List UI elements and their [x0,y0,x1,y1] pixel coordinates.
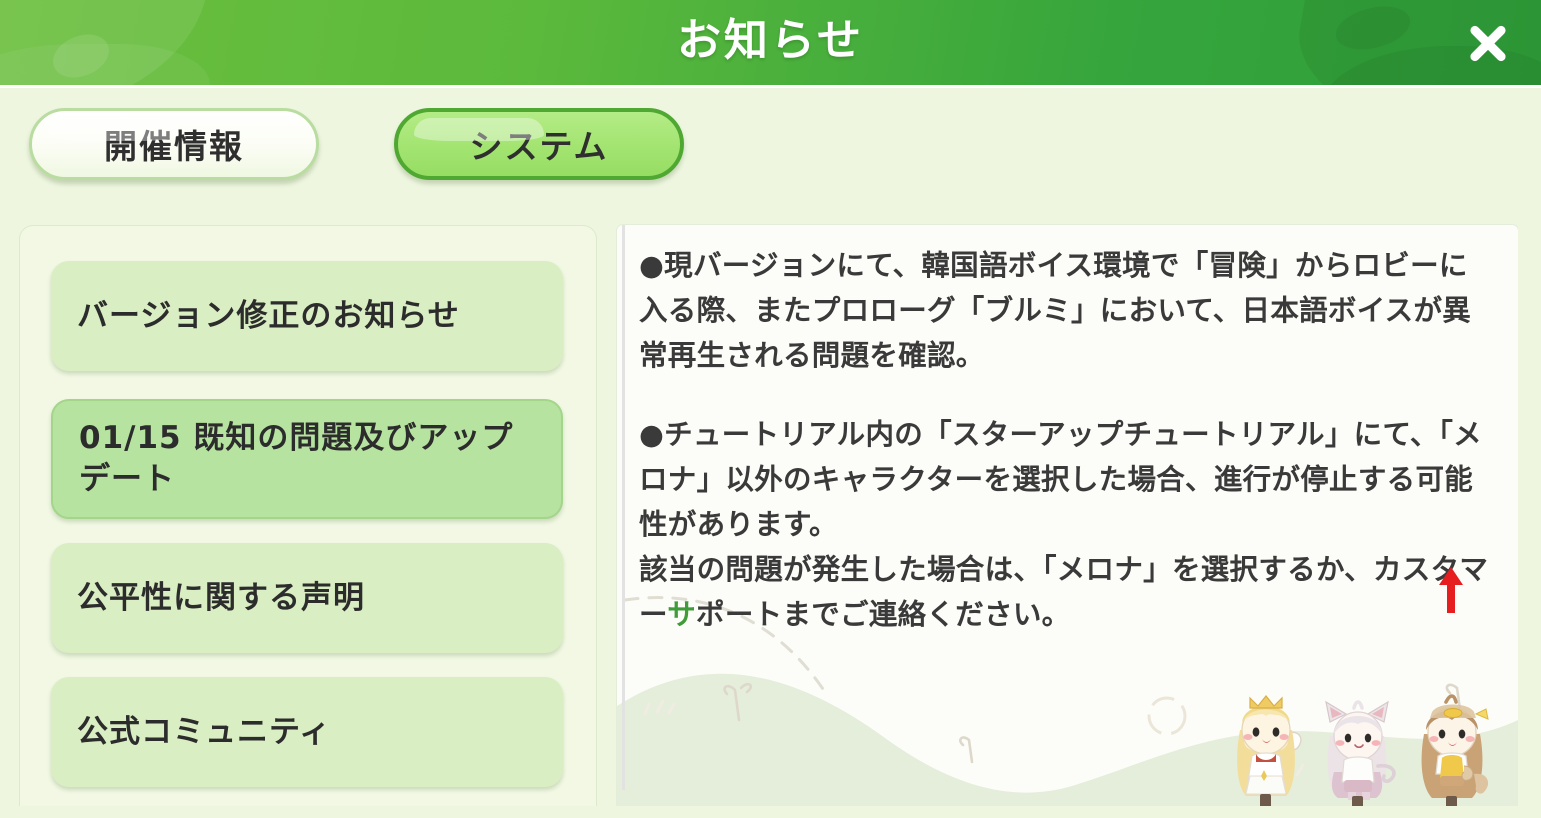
list-item-notice-0[interactable]: バージョン修正のお知らせ [51,261,563,371]
notice-list-sidebar: バージョン修正のお知らせ 01/15 既知の問題及びアップデート 公平性に関する… [19,225,597,818]
article-paragraph-1: ●現バージョンにて、韓国語ボイス環境で「冒険」からロビーに入る際、またプロローグ… [639,243,1495,378]
article-paragraph-3-after: ポートまでご連絡ください。 [696,598,1070,631]
blonde-winged-princess-chibi [1220,684,1312,810]
article-paragraph-2: ●チュートリアル内の「スターアップチュートリアル」にて、「メロナ」以外のキャラク… [639,412,1495,547]
list-item-label: 公式コミュニティ [77,712,331,753]
dialog-title: お知らせ [0,8,1541,74]
dialog-header: お知らせ [0,0,1541,88]
article-paragraph-3: 該当の問題が発生した場合は、「メロナ」を選択するか、カスタマーサポートまでご連絡… [639,547,1495,637]
list-item-notice-2[interactable]: 公平性に関する声明 [51,543,563,653]
list-item-notice-3[interactable]: 公式コミュニティ [51,677,563,787]
list-item-label: 01/15 既知の問題及びアップデート [79,418,535,500]
notice-detail-panel: ●現バージョンにて、韓国語ボイス環境で「冒険」からロビーに入る際、またプロローグ… [617,225,1518,818]
chibi-character-group [1214,675,1504,810]
paragraph-spacer [639,378,1495,412]
panel-scroll-divider[interactable] [622,225,625,790]
red-up-arrow-annotation [1437,565,1465,615]
notice-article: ●現バージョンにて、韓国語ボイス環境で「冒険」からロビーに入る際、またプロローグ… [639,243,1495,637]
tab-system[interactable]: システム [394,108,684,180]
list-item-label: 公平性に関する声明 [77,578,365,619]
tab-system-label: システム [469,120,608,168]
tab-bar: 開催情報 システム [0,88,1541,203]
white-cat-girl-chibi [1316,692,1400,810]
bottom-strip [0,806,1541,818]
notice-dialog: お知らせ 開催情報 システム バージョン修正のお知らせ 01/15 既知の問題及… [0,0,1541,818]
right-gutter [1518,203,1541,818]
close-icon[interactable] [1457,12,1519,74]
tab-event[interactable]: 開催情報 [29,108,319,180]
article-highlighted-text: サ [667,598,696,631]
tab-event-label: 開催情報 [104,120,244,168]
list-item-label: バージョン修正のお知らせ [77,296,460,337]
list-item-notice-1[interactable]: 01/15 既知の問題及びアップデート [51,399,563,519]
brown-hat-girl-chibi [1406,688,1498,810]
dialog-body: バージョン修正のお知らせ 01/15 既知の問題及びアップデート 公平性に関する… [0,203,1541,818]
